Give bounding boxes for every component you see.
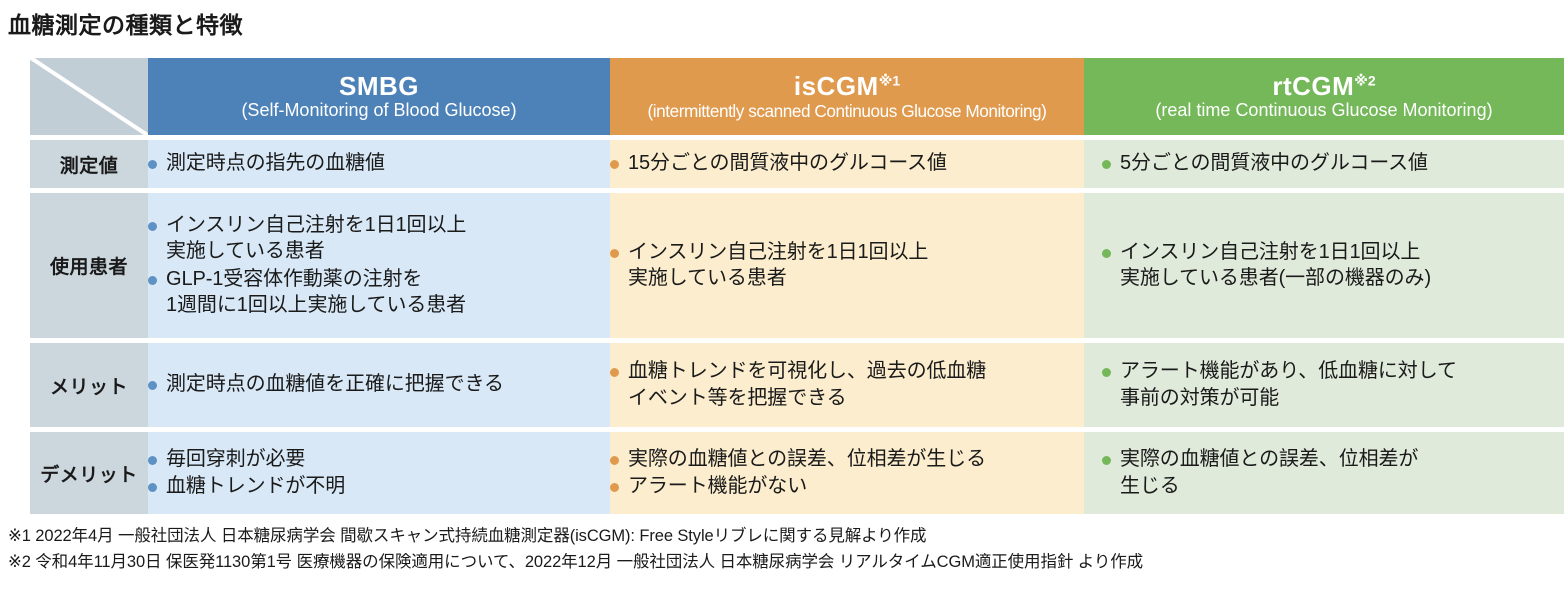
column-header-smbg-abbr: SMBG: [154, 73, 604, 101]
list-item: 測定時点の血糖値を正確に把握できる: [148, 371, 610, 397]
list-item-text: インスリン自己注射を1日1回以上 実施している患者(一部の機器のみ): [1120, 239, 1564, 292]
list-item-text: 実際の血糖値との誤差、位相差が 生じる: [1120, 446, 1564, 499]
bullet-list: 測定時点の指先の血糖値: [148, 150, 610, 176]
bullet-icon: [148, 381, 157, 390]
column-header-smbg: SMBG (Self-Monitoring of Blood Glucose): [148, 58, 610, 135]
list-item-line1: 測定時点の指先の血糖値: [166, 150, 610, 176]
footnote-1: ※1 2022年4月 一般社団法人 日本糖尿病学会 間歇スキャン式持続血糖測定器…: [8, 524, 1558, 550]
list-item-line1: アラート機能があり、低血糖に対して: [1120, 360, 1457, 382]
bullet-icon: [148, 222, 157, 231]
bullet-list: 血糖トレンドを可視化し、過去の低血糖 イベント等を把握できる: [610, 358, 1084, 411]
row-label-0: 測定値: [30, 140, 148, 188]
bullet-icon: [1102, 249, 1111, 258]
list-item-line2: 事前の対策が可能: [1120, 385, 1564, 411]
table-row: メリット 測定時点の血糖値を正確に把握できる 血糖トレンドを可視化し、過去の低血…: [30, 343, 1564, 427]
cell-iscgm-2: 血糖トレンドを可視化し、過去の低血糖 イベント等を把握できる: [610, 343, 1084, 427]
list-item-line2: 実施している患者(一部の機器のみ): [1120, 265, 1564, 291]
column-header-iscgm: isCGM※1 (intermittently scanned Continuo…: [610, 58, 1084, 135]
list-item-line1: 血糖トレンドが不明: [166, 473, 610, 499]
bullet-list: インスリン自己注射を1日1回以上 実施している患者(一部の機器のみ): [1102, 239, 1564, 292]
bullet-list: 5分ごとの間質液中のグルコース値: [1102, 150, 1564, 176]
table-row: 測定値 測定時点の指先の血糖値 15分ごとの間質液中のグルコース値: [30, 140, 1564, 188]
column-header-smbg-fullname: (Self-Monitoring of Blood Glucose): [154, 101, 604, 120]
cell-iscgm-3: 実際の血糖値との誤差、位相差が生じる アラート機能がない: [610, 432, 1084, 514]
list-item-line2: 実施している患者: [628, 265, 1084, 291]
page-title: 血糖測定の種類と特徴: [8, 6, 243, 40]
bullet-icon: [610, 456, 619, 465]
bullet-icon: [1102, 368, 1111, 377]
column-header-rtcgm-abbr: rtCGM※2: [1090, 73, 1558, 101]
bullet-list: 実際の血糖値との誤差、位相差が生じる アラート機能がない: [610, 446, 1084, 500]
list-item-line1: 15分ごとの間質液中のグルコース値: [628, 150, 1084, 176]
table-row: デメリット 毎回穿刺が必要 血糖トレンドが不明: [30, 432, 1564, 514]
list-item-line2: イベント等を把握できる: [628, 385, 1084, 411]
bullet-icon: [610, 368, 619, 377]
bullet-icon: [148, 456, 157, 465]
bullet-icon: [610, 483, 619, 492]
list-item-text: インスリン自己注射を1日1回以上 実施している患者: [628, 239, 1084, 292]
cell-iscgm-1: インスリン自己注射を1日1回以上 実施している患者: [610, 193, 1084, 338]
list-item-text: 血糖トレンドを可視化し、過去の低血糖 イベント等を把握できる: [628, 358, 1084, 411]
list-item-line1: 5分ごとの間質液中のグルコース値: [1120, 150, 1564, 176]
cell-rtcgm-1: インスリン自己注射を1日1回以上 実施している患者(一部の機器のみ): [1084, 193, 1564, 338]
cell-iscgm-0: 15分ごとの間質液中のグルコース値: [610, 140, 1084, 188]
list-item-line1: インスリン自己注射を1日1回以上: [166, 214, 466, 236]
row-label-3: デメリット: [30, 432, 148, 514]
bullet-icon: [1102, 160, 1111, 169]
bullet-icon: [1102, 456, 1111, 465]
bullet-list: 測定時点の血糖値を正確に把握できる: [148, 371, 610, 397]
list-item: 15分ごとの間質液中のグルコース値: [610, 150, 1084, 176]
list-item: 実際の血糖値との誤差、位相差が 生じる: [1102, 446, 1564, 499]
list-item-text: インスリン自己注射を1日1回以上 実施している患者: [166, 212, 610, 265]
list-item-line1: GLP-1受容体作動薬の注射を: [166, 268, 422, 290]
column-header-rtcgm: rtCGM※2 (real time Continuous Glucose Mo…: [1084, 58, 1564, 135]
list-item: 測定時点の指先の血糖値: [148, 150, 610, 176]
list-item-line1: アラート機能がない: [628, 473, 1084, 499]
list-item: アラート機能がない: [610, 473, 1084, 499]
bullet-list: インスリン自己注射を1日1回以上 実施している患者: [610, 239, 1084, 292]
list-item: 血糖トレンドを可視化し、過去の低血糖 イベント等を把握できる: [610, 358, 1084, 411]
bullet-list: 毎回穿刺が必要 血糖トレンドが不明: [148, 446, 610, 500]
cell-rtcgm-0: 5分ごとの間質液中のグルコース値: [1084, 140, 1564, 188]
list-item: インスリン自己注射を1日1回以上 実施している患者: [148, 212, 610, 265]
list-item-line1: 血糖トレンドを可視化し、過去の低血糖: [628, 360, 986, 382]
list-item: インスリン自己注射を1日1回以上 実施している患者: [610, 239, 1084, 292]
bullet-list: 15分ごとの間質液中のグルコース値: [610, 150, 1084, 176]
list-item-text: GLP-1受容体作動薬の注射を 1週間に1回以上実施している患者: [166, 266, 610, 319]
table-header-row: SMBG (Self-Monitoring of Blood Glucose) …: [30, 58, 1564, 135]
column-header-rtcgm-fullname: (real time Continuous Glucose Monitoring…: [1090, 101, 1558, 120]
column-header-iscgm-fullname: (intermittently scanned Continuous Gluco…: [616, 102, 1078, 120]
cell-rtcgm-3: 実際の血糖値との誤差、位相差が 生じる: [1084, 432, 1564, 514]
column-header-rtcgm-footnote-mark: ※2: [1354, 72, 1375, 88]
bullet-list: 実際の血糖値との誤差、位相差が 生じる: [1102, 446, 1564, 499]
list-item-line2: 実施している患者: [166, 238, 610, 264]
cell-smbg-1: インスリン自己注射を1日1回以上 実施している患者 GLP-1受容体作動薬の注射…: [148, 193, 610, 338]
list-item-line2: 生じる: [1120, 473, 1564, 499]
corner-cell: [30, 58, 148, 135]
list-item-line1: インスリン自己注射を1日1回以上: [628, 241, 928, 263]
bullet-icon: [610, 249, 619, 258]
list-item: GLP-1受容体作動薬の注射を 1週間に1回以上実施している患者: [148, 266, 610, 319]
cell-smbg-2: 測定時点の血糖値を正確に把握できる: [148, 343, 610, 427]
row-label-1: 使用患者: [30, 193, 148, 338]
bullet-list: アラート機能があり、低血糖に対して 事前の対策が可能: [1102, 358, 1564, 411]
list-item-text: アラート機能があり、低血糖に対して 事前の対策が可能: [1120, 358, 1564, 411]
list-item: 毎回穿刺が必要: [148, 446, 610, 472]
list-item: 実際の血糖値との誤差、位相差が生じる: [610, 446, 1084, 472]
list-item: 血糖トレンドが不明: [148, 473, 610, 499]
list-item-line1: 毎回穿刺が必要: [166, 446, 610, 472]
footnote-2: ※2 令和4年11月30日 保医発1130第1号 医療機器の保険適用について、2…: [8, 550, 1558, 576]
list-item: アラート機能があり、低血糖に対して 事前の対策が可能: [1102, 358, 1564, 411]
footnotes: ※1 2022年4月 一般社団法人 日本糖尿病学会 間歇スキャン式持続血糖測定器…: [8, 524, 1558, 575]
bullet-icon: [610, 160, 619, 169]
bullet-icon: [148, 483, 157, 492]
column-header-iscgm-abbr: isCGM※1: [616, 73, 1078, 101]
cell-smbg-0: 測定時点の指先の血糖値: [148, 140, 610, 188]
list-item: インスリン自己注射を1日1回以上 実施している患者(一部の機器のみ): [1102, 239, 1564, 292]
list-item-line1: 実際の血糖値との誤差、位相差が生じる: [628, 446, 1084, 472]
list-item-line1: インスリン自己注射を1日1回以上: [1120, 241, 1420, 263]
column-header-iscgm-footnote-mark: ※1: [879, 72, 900, 88]
bullet-icon: [148, 276, 157, 285]
list-item-line1: 測定時点の血糖値を正確に把握できる: [166, 371, 610, 397]
bullet-list: インスリン自己注射を1日1回以上 実施している患者 GLP-1受容体作動薬の注射…: [148, 212, 610, 319]
list-item-line2: 1週間に1回以上実施している患者: [166, 292, 610, 318]
cell-smbg-3: 毎回穿刺が必要 血糖トレンドが不明: [148, 432, 610, 514]
row-label-2: メリット: [30, 343, 148, 427]
comparison-table: SMBG (Self-Monitoring of Blood Glucose) …: [30, 58, 1564, 514]
list-item: 5分ごとの間質液中のグルコース値: [1102, 150, 1564, 176]
list-item-line1: 実際の血糖値との誤差、位相差が: [1120, 448, 1418, 470]
bullet-icon: [148, 160, 157, 169]
cell-rtcgm-2: アラート機能があり、低血糖に対して 事前の対策が可能: [1084, 343, 1564, 427]
table-row: 使用患者 インスリン自己注射を1日1回以上 実施している患者 GLP-1受容体作…: [30, 193, 1564, 338]
diagonal-divider-icon: [30, 58, 148, 135]
